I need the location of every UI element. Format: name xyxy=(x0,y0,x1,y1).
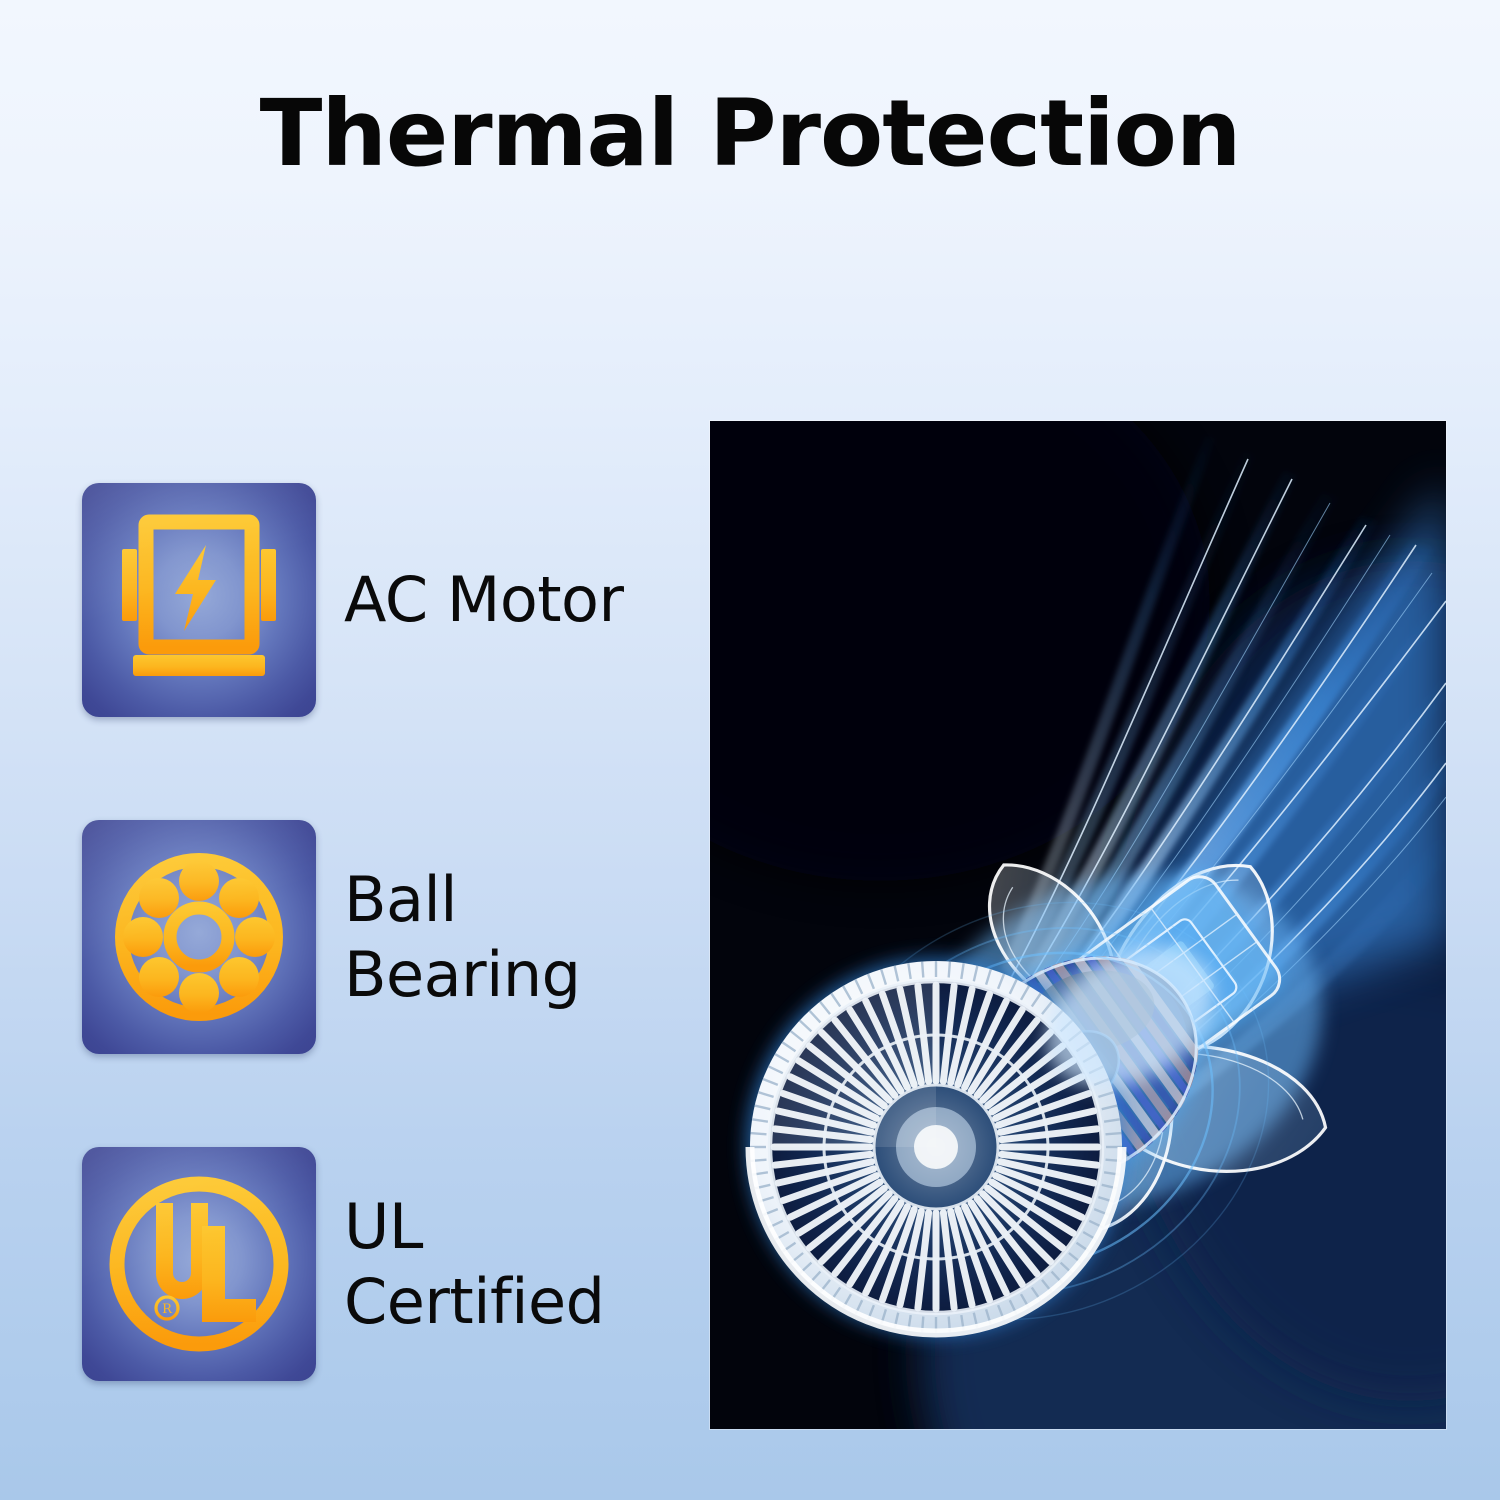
feature-item-ul-certified: R UL Certified xyxy=(82,1147,605,1381)
feature-item-ac-motor: AC Motor xyxy=(82,483,623,717)
feature-icon-tile: R xyxy=(82,1147,316,1381)
feature-item-ball-bearing: Ball Bearing xyxy=(82,820,581,1054)
feature-icon-tile xyxy=(82,483,316,717)
svg-text:R: R xyxy=(162,1302,173,1317)
product-image-panel xyxy=(710,421,1446,1429)
feature-label-ball-bearing: Ball Bearing xyxy=(344,862,581,1012)
feature-label-ul-certified: UL Certified xyxy=(344,1189,605,1339)
page-title: Thermal Protection xyxy=(0,86,1500,183)
ball-bearing-icon xyxy=(82,820,316,1054)
feature-icon-tile xyxy=(82,820,316,1054)
ul-certified-icon: R xyxy=(82,1147,316,1381)
page-title-container: Thermal Protection xyxy=(0,86,1500,183)
ac-motor-icon xyxy=(82,483,316,717)
fan-motor-airflow-photo xyxy=(710,421,1446,1429)
feature-label-ac-motor: AC Motor xyxy=(344,562,623,637)
